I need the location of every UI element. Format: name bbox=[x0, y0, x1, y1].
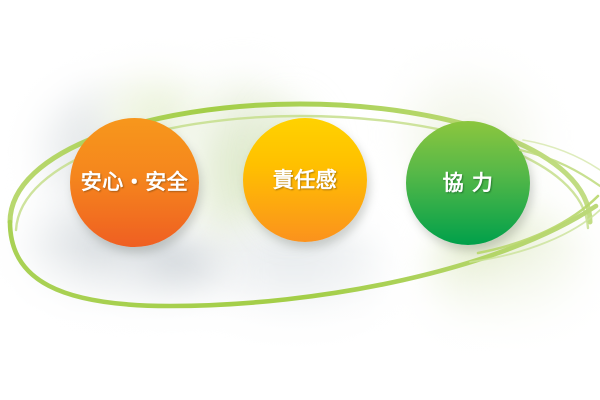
concept-diagram-canvas: 安心・安全 責任感 協 力 bbox=[0, 0, 600, 400]
orbit-ring-front bbox=[0, 0, 600, 400]
